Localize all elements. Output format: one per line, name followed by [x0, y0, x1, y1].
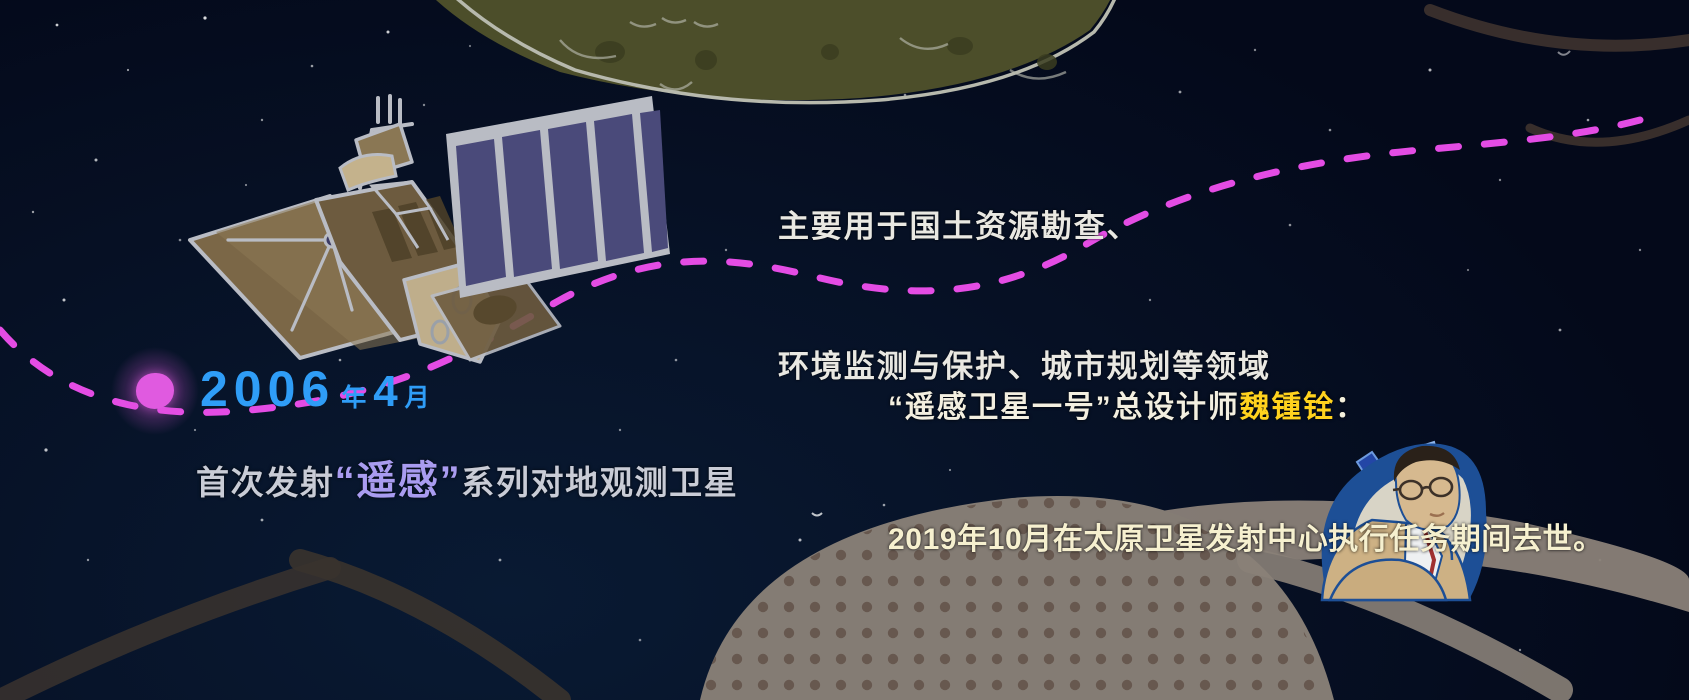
credit-line-1: “遥感卫星一号”总设计师魏锺铨：: [888, 386, 1604, 430]
timeline-caption: 首次发射 “ 遥感 ” 系列对地观测卫星: [196, 448, 738, 506]
timeline-date: 2006 年 4 月: [200, 360, 431, 418]
timeline-month-unit: 月: [405, 378, 431, 414]
credit-block: “遥感卫星一号”总设计师魏锺铨： 2019年10月在太原卫星发射中心执行任务期间…: [888, 298, 1604, 650]
timeline-month: 4: [373, 367, 398, 417]
description-line-1: 主要用于国土资源勘查、: [778, 204, 1271, 250]
caption-suffix: 系列对地观测卫星: [461, 456, 738, 504]
designer-name: 魏锺铨: [1240, 391, 1335, 424]
caption-open-quote: “: [335, 459, 357, 504]
caption-close-quote: ”: [440, 459, 462, 504]
timeline-year-unit: 年: [341, 378, 367, 414]
illustration-canvas: 主要用于国土资源勘查、 环境监测与保护、城市规划等领域 “遥感卫星一号”总设计师…: [0, 0, 1689, 700]
caption-highlight: 遥感: [356, 448, 439, 506]
credit-prefix: “遥感卫星一号”总设计师: [888, 391, 1240, 424]
caption-prefix: 首次发射: [196, 456, 335, 504]
credit-suffix: ：: [1335, 391, 1367, 424]
timeline-year: 2006: [200, 360, 335, 418]
timeline-marker-dot: [136, 373, 174, 409]
credit-line-2: 2019年10月在太原卫星发射中心执行任务期间去世。: [888, 518, 1604, 562]
